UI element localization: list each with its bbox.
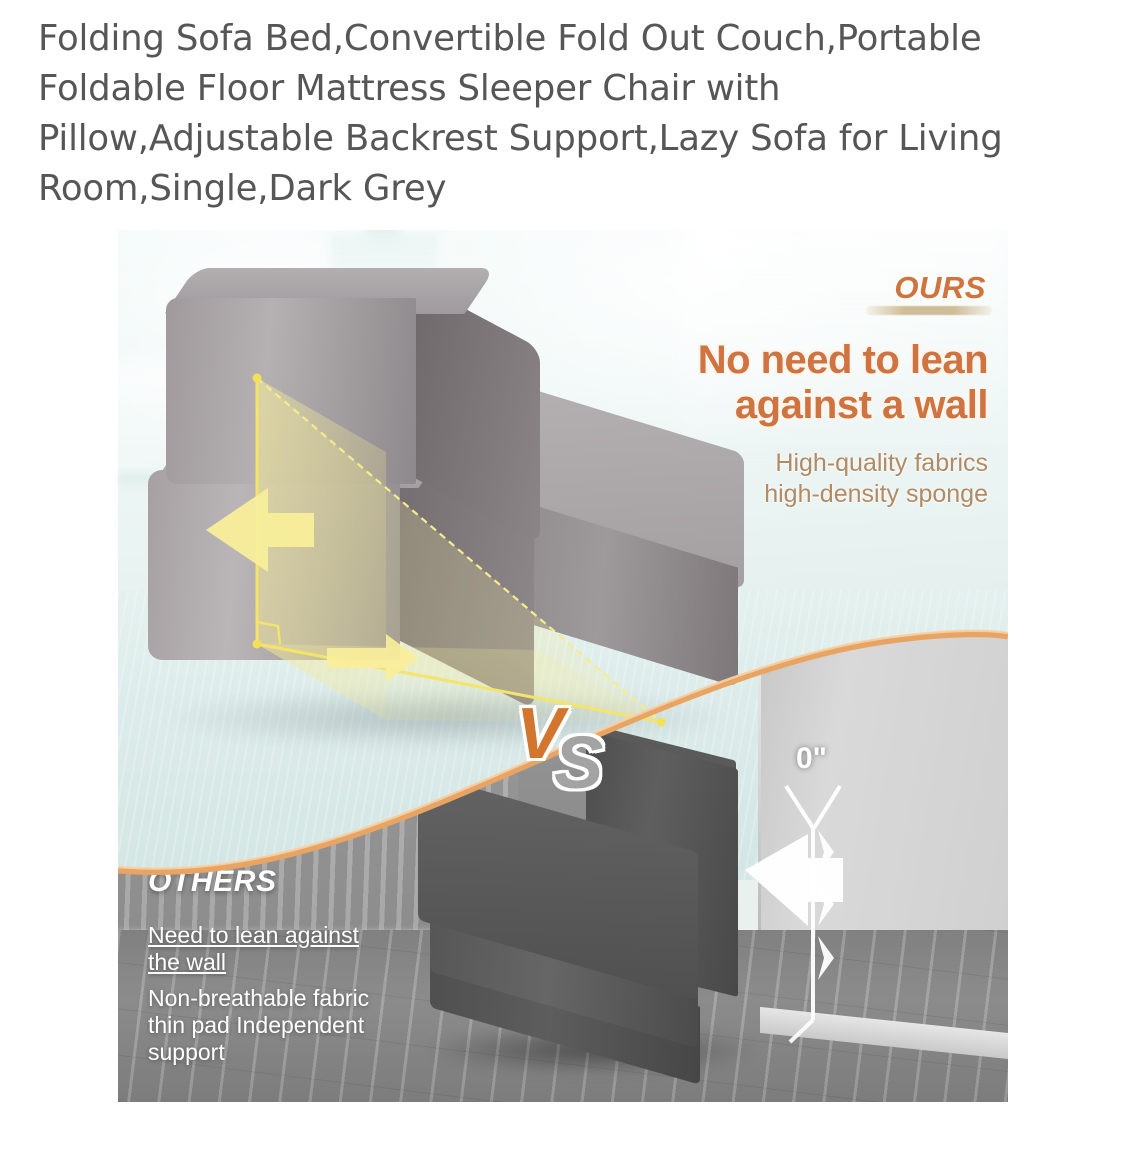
ours-headline: No need to lean against a wall [588, 338, 988, 428]
gap-measurement-label: 0" [796, 742, 827, 776]
ours-subhead: High-quality fabrics high-density sponge [588, 448, 988, 510]
product-image[interactable]: OURS No need to lean against a wall High… [118, 230, 1008, 1102]
lower-block-front-face [148, 470, 400, 660]
upper-block-front-face [166, 298, 416, 484]
others-drawback-secondary: Non-breathable fabric thin pad Independe… [148, 985, 448, 1066]
others-drawback-primary: Need to lean against the wall [148, 922, 438, 976]
ours-badge: OURS [894, 270, 986, 306]
others-sofa-illustration [418, 750, 838, 1090]
page-title: Folding Sofa Bed,Convertible Fold Out Co… [38, 14, 1038, 214]
versus-letter-s: S [554, 726, 603, 800]
product-listing-page: Folding Sofa Bed,Convertible Fold Out Co… [0, 0, 1125, 1175]
ours-badge-underline [866, 306, 992, 315]
